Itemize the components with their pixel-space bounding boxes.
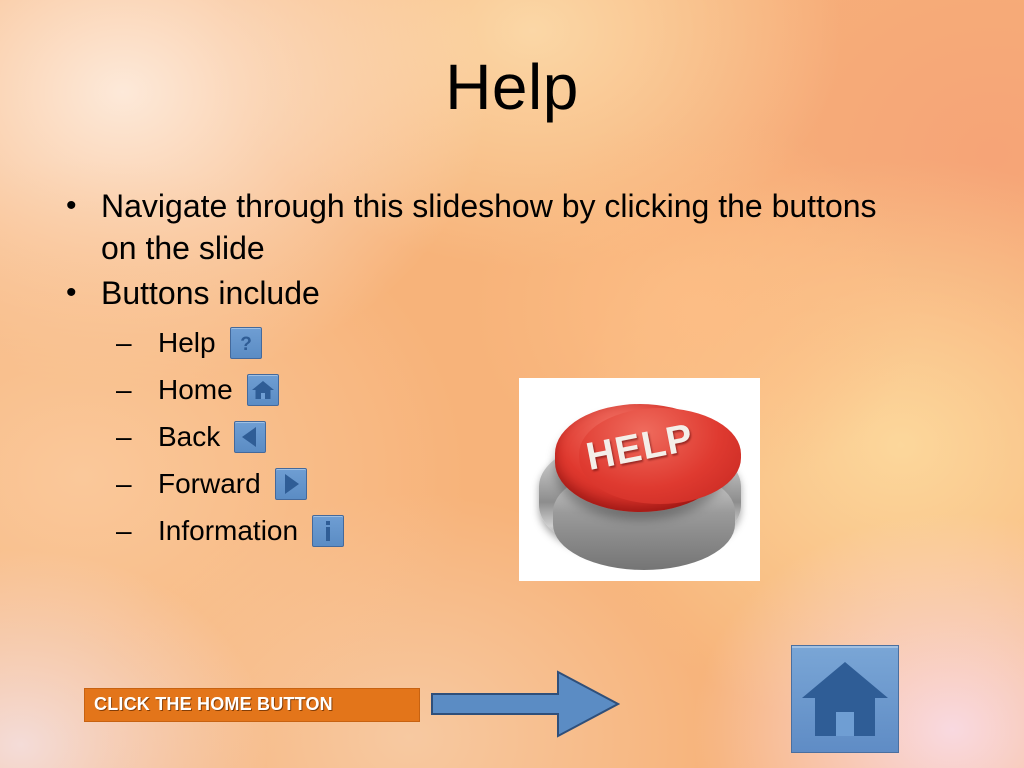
triangle-right-icon[interactable]: [275, 468, 307, 500]
sub-bullet-item-forward: – Forward: [58, 466, 918, 503]
information-icon[interactable]: [312, 515, 344, 547]
sub-bullet-label: Back: [158, 419, 220, 456]
sub-bullet-item-home: – Home: [58, 372, 918, 409]
sub-bullet-label: Home: [158, 372, 233, 409]
sub-bullet-marker: –: [116, 419, 132, 456]
sub-bullet-item-back: – Back: [58, 419, 918, 456]
sub-bullet-label: Help: [158, 325, 216, 362]
sub-bullet-marker: –: [116, 372, 132, 409]
caption-banner: CLICK THE HOME BUTTON: [84, 688, 420, 722]
bullet-item: • Buttons include: [58, 273, 918, 315]
caption-text: CLICK THE HOME BUTTON: [94, 694, 333, 715]
sub-bullet-marker: –: [116, 466, 132, 503]
home-navigation-button[interactable]: [791, 645, 899, 753]
slide-body: • Navigate through this slideshow by cli…: [58, 186, 918, 550]
slide-canvas: Help • Navigate through this slideshow b…: [0, 0, 1024, 768]
sub-bullet-marker: –: [116, 513, 132, 550]
bullet-item: • Navigate through this slideshow by cli…: [58, 186, 918, 269]
help-push-button-photo: HELP: [519, 378, 760, 581]
bullet-marker: •: [66, 273, 77, 314]
question-mark-icon[interactable]: ?: [230, 327, 262, 359]
bullet-marker: •: [66, 186, 77, 227]
home-icon[interactable]: [247, 374, 279, 406]
svg-text:?: ?: [240, 334, 252, 355]
slide-title: Help: [0, 54, 1024, 121]
sub-bullet-item-information: – Information: [58, 513, 918, 550]
bullet-text: Buttons include: [101, 273, 901, 315]
sub-bullet-label: Forward: [158, 466, 261, 503]
sub-bullet-item-help: – Help ?: [58, 325, 918, 362]
triangle-left-icon[interactable]: [234, 421, 266, 453]
help-button-graphic: HELP: [535, 396, 745, 564]
sub-bullet-marker: –: [116, 325, 132, 362]
right-arrow-shape: [430, 666, 620, 742]
sub-bullet-label: Information: [158, 513, 298, 550]
bullet-text: Navigate through this slideshow by click…: [101, 186, 901, 269]
